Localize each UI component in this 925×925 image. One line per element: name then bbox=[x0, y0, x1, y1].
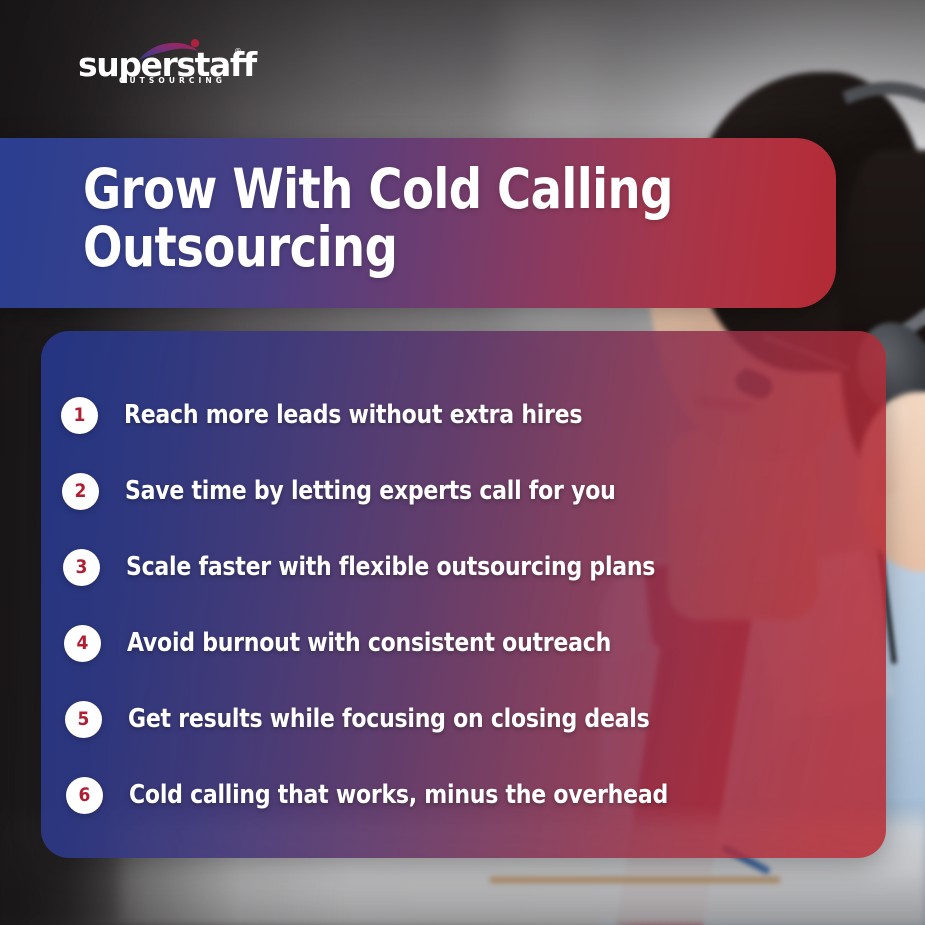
list-item: 1Reach more leads without extra hires bbox=[41, 377, 886, 453]
page-title: Grow With Cold Calling Outsourcing bbox=[83, 160, 741, 277]
logo-registered-mark: ® bbox=[234, 47, 242, 56]
infographic-canvas: superstaff ® OUTSOURCING Grow With Cold … bbox=[0, 0, 925, 925]
list-item: 5Get results while focusing on closing d… bbox=[41, 681, 886, 757]
logo-tagline: OUTSOURCING bbox=[119, 77, 226, 85]
list-item-label: Reach more leads without extra hires bbox=[124, 401, 582, 429]
benefits-list: 1Reach more leads without extra hires2Sa… bbox=[41, 331, 886, 858]
list-item-label: Get results while focusing on closing de… bbox=[128, 705, 649, 733]
title-banner: Grow With Cold Calling Outsourcing bbox=[0, 138, 836, 308]
list-item-label: Scale faster with flexible outsourcing p… bbox=[126, 553, 655, 581]
list-item-label: Save time by letting experts call for yo… bbox=[125, 477, 616, 505]
list-item-label: Avoid burnout with consistent outreach bbox=[127, 629, 611, 657]
list-item-number-badge: 4 bbox=[64, 625, 101, 662]
list-item: 4Avoid burnout with consistent outreach bbox=[41, 605, 886, 681]
list-item: 3Scale faster with flexible outsourcing … bbox=[41, 529, 886, 605]
list-item-number-badge: 2 bbox=[62, 473, 99, 510]
list-item: 2Save time by letting experts call for y… bbox=[41, 453, 886, 529]
list-item-label: Cold calling that works, minus the overh… bbox=[129, 781, 668, 809]
benefits-list-panel: 1Reach more leads without extra hires2Sa… bbox=[41, 331, 886, 858]
list-item: 6Cold calling that works, minus the over… bbox=[41, 757, 886, 833]
list-item-number-badge: 5 bbox=[65, 701, 102, 738]
list-item-number-badge: 1 bbox=[61, 397, 98, 434]
list-item-number-badge: 6 bbox=[66, 777, 103, 814]
list-item-number-badge: 3 bbox=[63, 549, 100, 586]
superstaff-logo[interactable]: superstaff ® OUTSOURCING bbox=[78, 40, 254, 84]
